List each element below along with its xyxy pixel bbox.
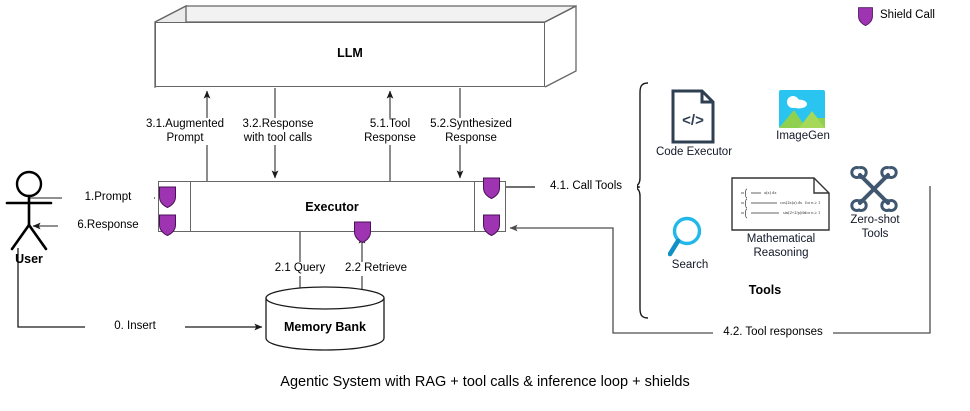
tool-label-zero-shot-tools: Zero-shot Tools — [838, 214, 912, 241]
svg-text:a(x) dx: a(x) dx — [764, 190, 777, 195]
tool-label-mathematical-reasoning: Mathematical Reasoning — [735, 233, 827, 260]
edge-label-retrieve: 2.2 Retrieve — [332, 262, 420, 276]
svg-text:</>: </> — [682, 112, 704, 129]
llm-label: LLM — [155, 46, 545, 60]
edge-label-prompt: 1.Prompt — [62, 191, 154, 205]
shield-icon-outbound-response[interactable] — [158, 213, 177, 236]
shield-icon-tool-response[interactable] — [482, 213, 501, 236]
math-document-icon[interactable]: a(x) dx cos(2x)a) dx sin(2+2/p)dx for n … — [731, 177, 830, 231]
edge-label-augmented-prompt-line2: Prompt — [166, 132, 203, 144]
svg-text:for n ≥ 1: for n ≥ 1 — [805, 210, 820, 215]
user-label: User — [2, 252, 56, 266]
svg-text:for n ≥ 1: for n ≥ 1 — [805, 200, 820, 205]
user-actor-icon — [7, 172, 51, 249]
edge-label-query: 2.1 Query — [262, 262, 338, 276]
legend-label: Shield Call — [880, 9, 935, 21]
edge-label-synthesized-response-line1: 5.2.Synthesized — [430, 118, 512, 130]
edge-label-tool-responses: 4.2. Tool responses — [713, 326, 833, 340]
tools-right-brace — [917, 83, 931, 318]
edge-label-call-tools: 4.1. Call Tools — [535, 180, 637, 194]
code-document-icon[interactable]: </> — [671, 89, 715, 144]
edge-label-response: 6.Response — [58, 219, 158, 233]
edge-label-tool-response-line1: 5.1.Tool — [370, 118, 410, 130]
svg-text:cos(2x)a) dx: cos(2x)a) dx — [780, 200, 803, 205]
shield-icon-tool-call[interactable] — [482, 176, 501, 199]
shield-icon-inbound-prompt[interactable] — [158, 185, 177, 208]
crossed-wrenches-icon[interactable] — [850, 165, 898, 213]
magnifier-icon[interactable] — [668, 215, 712, 259]
memory-bank-cylinder — [266, 287, 384, 350]
edge-label-synthesized-response: 5.2.Synthesized Response — [424, 118, 518, 145]
tools-left-brace — [634, 83, 648, 318]
edge-label-response-tool-calls-line1: 3.2.Response — [243, 118, 314, 130]
edge-label-tool-response: 5.1.Tool Response — [348, 118, 432, 145]
shield-icon-legend — [857, 6, 874, 26]
edge-label-insert: 0. Insert — [85, 320, 185, 334]
executor-right-divider — [474, 181, 475, 232]
shield-icon-memory-retrieve[interactable] — [353, 220, 372, 243]
edge-label-augmented-prompt-line1: 3.1.Augmented — [146, 118, 224, 130]
image-gen-icon[interactable] — [779, 90, 825, 128]
edge-label-synthesized-response-line2: Response — [445, 132, 497, 144]
edge-label-response-tool-calls-line2: with tool calls — [244, 132, 312, 144]
executor-label: Executor — [190, 200, 474, 214]
diagram-caption: Agentic System with RAG + tool calls & i… — [0, 374, 970, 390]
edge-label-tool-response-line2: Response — [364, 132, 416, 144]
tool-label-search: Search — [662, 259, 718, 273]
diagram-canvas: LLM Executor Memory Bank User 1.Prompt 6… — [0, 0, 970, 411]
edge-label-augmented-prompt: 3.1.Augmented Prompt — [139, 118, 231, 145]
tool-label-imagegen: ImageGen — [766, 130, 840, 144]
svg-text:sin(2+2/p)dx: sin(2+2/p)dx — [783, 210, 807, 215]
edge-label-response-with-tool-calls: 3.2.Response with tool calls — [231, 118, 325, 145]
tool-label-code-executor: Code Executor — [651, 146, 737, 160]
tools-group-label: Tools — [700, 283, 830, 297]
memory-bank-label: Memory Bank — [266, 320, 384, 334]
